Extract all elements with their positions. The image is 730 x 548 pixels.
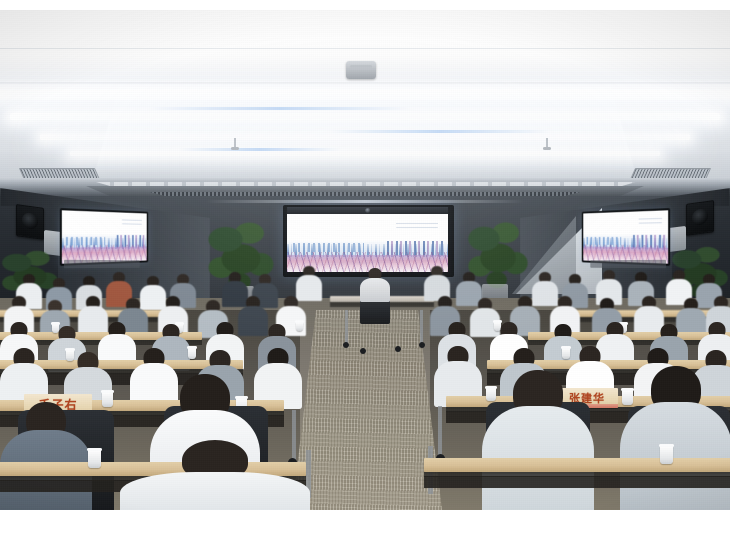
screen-camera-bar [287, 207, 448, 214]
presenter [359, 268, 391, 300]
ceiling-seam [0, 48, 730, 49]
light-reflection [330, 130, 550, 133]
left-led-screen[interactable] [60, 208, 148, 266]
attendee-foreground [0, 402, 92, 510]
paper-cup [660, 446, 673, 464]
table-leg [345, 310, 348, 344]
attendee-foreground [620, 366, 730, 510]
table-leg [420, 310, 423, 344]
screen-watermark-main [396, 220, 438, 228]
main-screen-surface [287, 214, 448, 272]
sprinkler-left [234, 138, 236, 148]
screenshot-root: 千子右 张建华 [0, 0, 730, 548]
cityscape-image-right [583, 210, 668, 263]
chair-caster [360, 348, 366, 354]
light-strip-row-3 [40, 134, 690, 140]
letterbox-top [0, 0, 730, 10]
ceiling-seam [0, 82, 730, 84]
table-row-5-right [424, 458, 730, 472]
ceiling-projector-box [346, 61, 376, 79]
wall-speaker-right [686, 200, 714, 236]
attendee-foreground [120, 440, 310, 510]
screen-watermark-left [122, 217, 142, 224]
attendee [254, 348, 302, 406]
attendee-foreground [482, 370, 594, 510]
paper-cup [102, 392, 113, 407]
camera-lens-icon [365, 208, 371, 213]
wall-speaker-left [16, 204, 44, 240]
paper-cup [188, 348, 196, 359]
paper-cup [88, 450, 101, 468]
paper-cup [296, 322, 303, 331]
chair-caster [419, 342, 425, 348]
light-strip-row-1 [0, 90, 730, 99]
right-led-screen[interactable] [582, 208, 670, 266]
cityscape-image-left [62, 210, 147, 263]
light-strip-row-4 [70, 151, 660, 156]
chair-caster [395, 346, 401, 352]
attendee [424, 266, 450, 300]
conference-room-photo: 千子右 张建华 [0, 10, 730, 510]
letterbox-bottom [0, 510, 730, 548]
right-screen-mount [590, 260, 666, 268]
light-reflection [150, 107, 410, 110]
light-strip-row-2 [10, 113, 720, 120]
light-reflection [180, 148, 340, 151]
sprinkler-right [546, 138, 548, 148]
left-screen-mount [64, 260, 140, 268]
screen-watermark-right [639, 216, 663, 224]
table-leg [438, 406, 442, 458]
attendee [296, 266, 322, 300]
chair-caster [343, 342, 349, 348]
cityscape-image-main [287, 214, 448, 272]
wall-light-strip [206, 200, 524, 203]
